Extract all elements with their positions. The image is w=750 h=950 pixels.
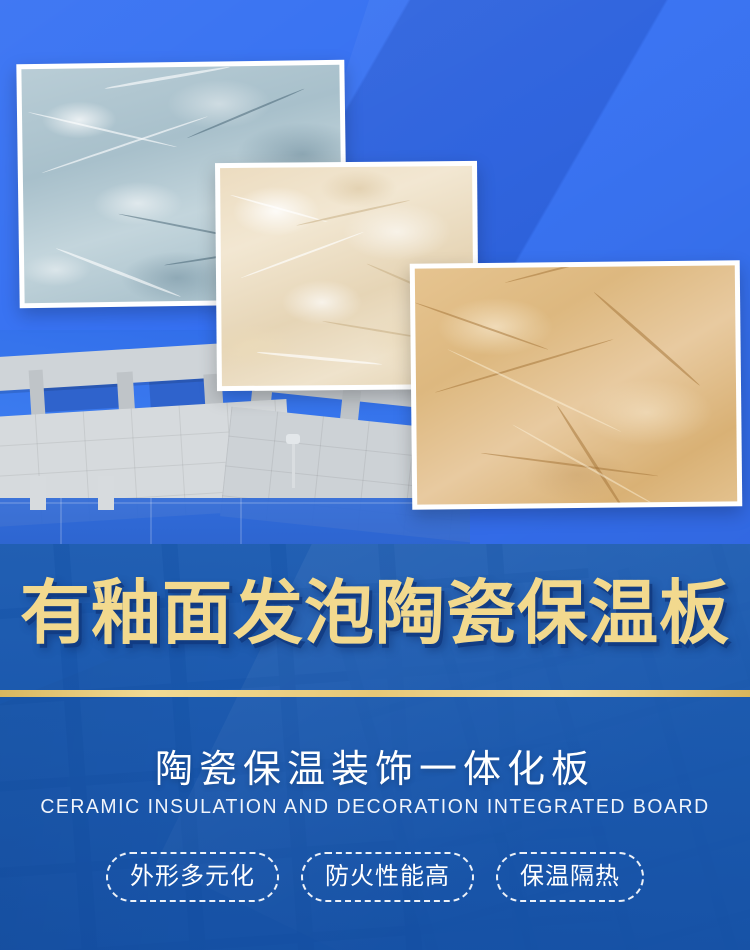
feature-badge-fire-resistance[interactable]: 防火性能高 bbox=[301, 852, 474, 902]
marble-vein bbox=[504, 265, 659, 284]
page-title: 有釉面发泡陶瓷保温板 bbox=[0, 578, 750, 648]
marble-vein bbox=[42, 116, 208, 174]
marble-vein bbox=[28, 111, 177, 148]
feature-badge-list: 外形多元化 防火性能高 保温隔热 bbox=[0, 852, 750, 902]
product-banner: 有釉面发泡陶瓷保温板 陶瓷保温装饰一体化板 CERAMIC INSULATION… bbox=[0, 0, 750, 950]
marble-vein bbox=[415, 302, 548, 351]
mid-building-pole bbox=[292, 440, 295, 488]
marble-vein bbox=[104, 65, 230, 90]
marble-vein bbox=[55, 247, 181, 298]
marble-vein bbox=[257, 351, 383, 366]
mid-building-vent bbox=[30, 476, 46, 510]
marble-vein bbox=[241, 231, 364, 279]
marble-vein bbox=[296, 199, 410, 226]
gold-divider bbox=[0, 690, 750, 697]
feature-badge-thermal-insulation[interactable]: 保温隔热 bbox=[496, 852, 644, 902]
marble-vein bbox=[593, 291, 701, 386]
mid-building-glass-line bbox=[0, 502, 470, 504]
product-tile-tan bbox=[410, 260, 743, 509]
marble-vein bbox=[512, 424, 658, 505]
mid-building-vent bbox=[98, 476, 114, 510]
subtitle-chinese: 陶瓷保温装饰一体化板 bbox=[0, 738, 750, 793]
mid-building-column bbox=[29, 370, 46, 417]
tile-texture-tan bbox=[415, 265, 737, 504]
feature-badge-shape-diversity[interactable]: 外形多元化 bbox=[106, 852, 279, 902]
marble-vein bbox=[187, 88, 305, 139]
mid-building-lamp bbox=[286, 434, 300, 444]
subtitle-english: CERAMIC INSULATION AND DECORATION INTEGR… bbox=[11, 796, 739, 819]
marble-vein bbox=[230, 194, 328, 223]
